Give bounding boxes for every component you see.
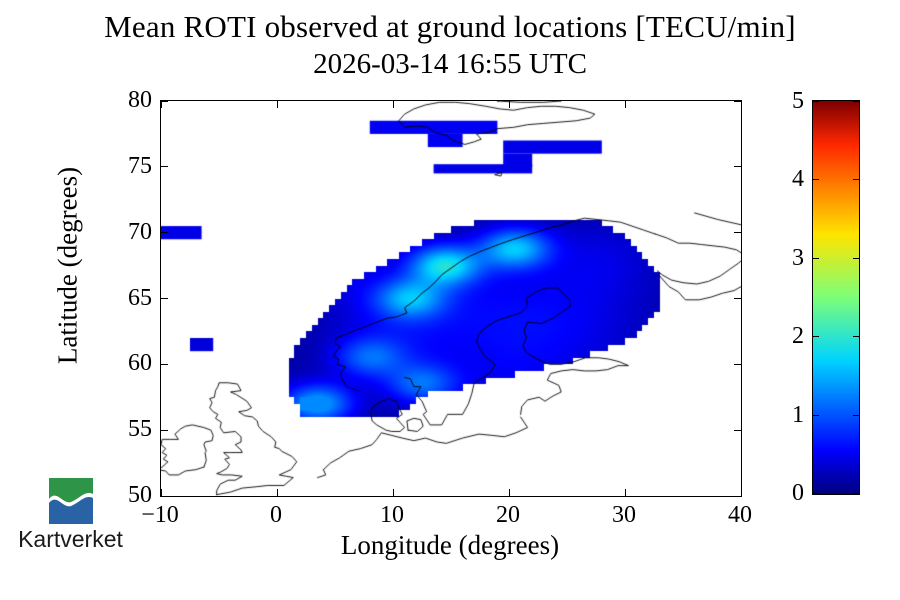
x-axis-tick — [393, 101, 394, 108]
colorbar-tick — [853, 179, 860, 180]
roti-map-figure: Mean ROTI observed at ground locations [… — [0, 0, 900, 600]
x-axis-tick-label: 10 — [352, 502, 432, 529]
page-subtitle: 2026-03-14 16:55 UTC — [0, 46, 900, 82]
y-axis-tick — [734, 232, 741, 233]
y-axis-tick — [161, 364, 168, 365]
y-axis-tick — [734, 496, 741, 497]
colorbar-tick-label: 0 — [764, 480, 804, 506]
colorbar-tick — [812, 493, 819, 494]
colorbar-tick-label: 3 — [764, 245, 804, 271]
x-axis-tick — [509, 489, 510, 496]
colorbar-tick — [853, 101, 860, 102]
x-axis-tick — [277, 489, 278, 496]
colorbar — [812, 100, 860, 495]
y-axis-tick-label: 80 — [92, 87, 152, 113]
y-axis-tick — [161, 166, 168, 167]
y-axis-tick — [161, 496, 168, 497]
y-axis-tick — [161, 430, 168, 431]
x-axis-tick-label: 20 — [468, 502, 548, 529]
colorbar-tick — [812, 101, 819, 102]
colorbar-tick — [812, 415, 819, 416]
title-block: Mean ROTI observed at ground locations [… — [0, 8, 900, 82]
x-axis-tick — [741, 101, 742, 108]
colorbar-tick-label: 2 — [764, 323, 804, 349]
kartverket-logo: Kartverket — [8, 478, 133, 553]
x-axis-tick-label: 0 — [236, 502, 316, 529]
colorbar-tick — [812, 258, 819, 259]
x-axis-tick — [625, 489, 626, 496]
y-axis-tick — [734, 166, 741, 167]
x-axis-tick-label: 30 — [584, 502, 664, 529]
y-axis-tick — [161, 232, 168, 233]
y-axis-tick-label: 65 — [92, 285, 152, 311]
y-axis-tick — [734, 298, 741, 299]
colorbar-tick — [853, 258, 860, 259]
y-axis-tick-label: 75 — [92, 153, 152, 179]
colorbar-tick-label: 1 — [764, 402, 804, 428]
colorbar-gradient — [812, 100, 860, 495]
y-axis-tick — [734, 101, 741, 102]
y-axis-tick — [161, 298, 168, 299]
y-axis-tick-label: 55 — [92, 416, 152, 442]
x-axis-tick-label: 40 — [700, 502, 780, 529]
map-plot-area — [160, 100, 742, 497]
y-axis-label: Latitude (degrees) — [53, 136, 84, 396]
colorbar-tick — [853, 336, 860, 337]
page-title: Mean ROTI observed at ground locations [… — [0, 8, 900, 46]
x-axis-tick — [625, 101, 626, 108]
y-axis-tick — [734, 430, 741, 431]
colorbar-tick-label: 5 — [764, 88, 804, 114]
colorbar-tick — [853, 493, 860, 494]
kartverket-logo-icon — [49, 478, 93, 524]
y-axis-tick-label: 60 — [92, 350, 152, 376]
x-axis-tick — [393, 489, 394, 496]
y-axis-tick-label: 70 — [92, 219, 152, 245]
x-axis-tick — [277, 101, 278, 108]
x-axis-label: Longitude (degrees) — [160, 530, 740, 561]
colorbar-tick-label: 4 — [764, 166, 804, 192]
y-axis-tick — [734, 364, 741, 365]
kartverket-logo-text: Kartverket — [8, 526, 133, 553]
x-axis-tick — [509, 101, 510, 108]
y-axis-tick — [161, 101, 168, 102]
roti-heatmap-canvas — [161, 101, 741, 496]
colorbar-tick — [812, 336, 819, 337]
colorbar-tick — [853, 415, 860, 416]
x-axis-tick — [161, 101, 162, 108]
colorbar-tick — [812, 179, 819, 180]
